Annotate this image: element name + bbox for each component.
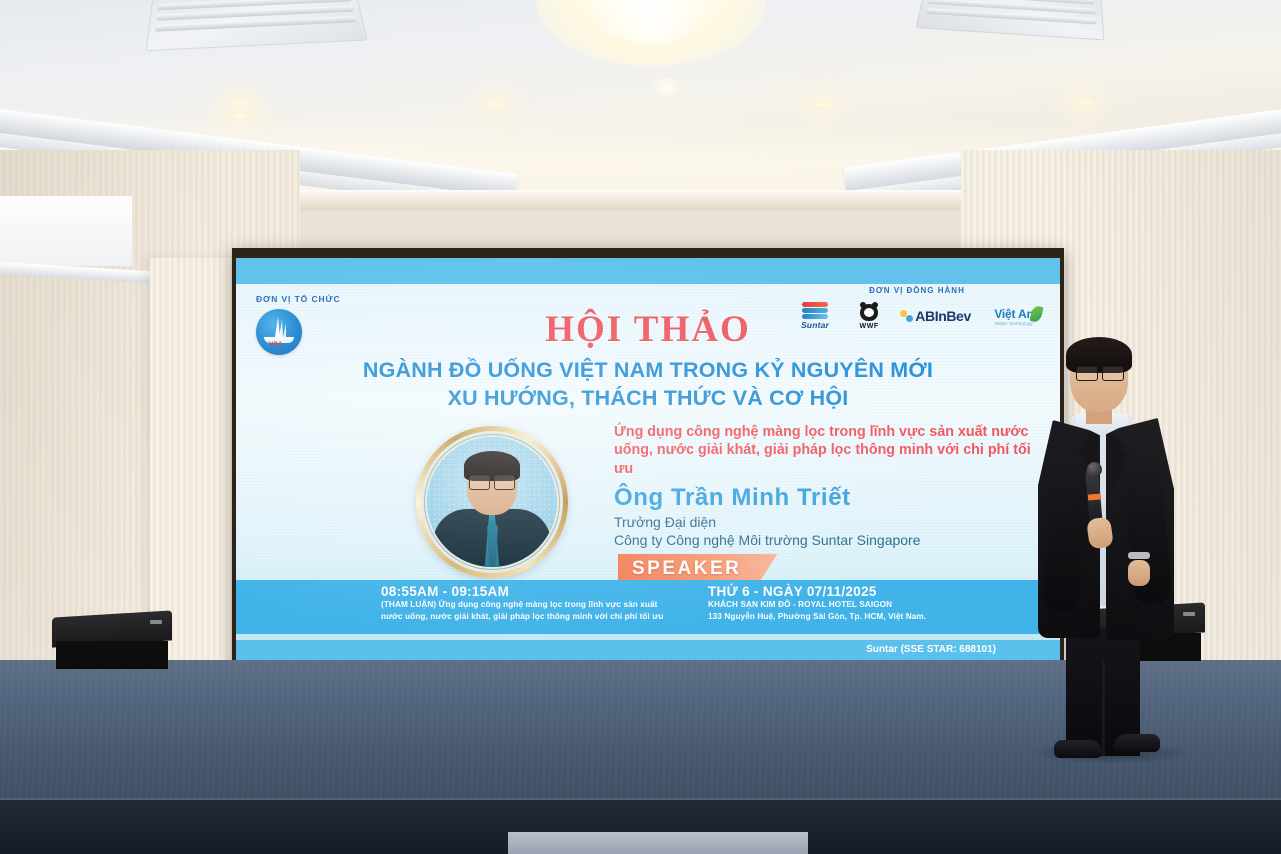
portrait-photo [427,437,557,567]
speaker-name: Ông Trần Minh Triết [614,484,851,512]
portrait-glasses-icon [469,475,515,488]
footer-venue: KHÁCH SẠN KIM ĐÔ - ROYAL HOTEL SAIGON [708,599,1038,611]
speaker-portrait [416,426,568,578]
downlight-icon [226,112,252,121]
stage-monitor-speaker-left [52,614,172,670]
conference-photo-scene: ĐƠN VỊ TỔ CHỨC VBA ĐƠN VỊ ĐỒNG HÀNH [0,0,1281,854]
speaker-organization: Công ty Công nghệ Môi trường Suntar Sing… [614,532,921,548]
presenter-glasses-icon [1076,366,1124,379]
downlight-icon [810,100,836,109]
slide-top-band [236,258,1060,284]
slide-footer-bar: 08:55AM - 09:15AM (THAM LUẬN) Ứng dụng c… [236,580,1060,634]
chandelier-drop [652,78,682,96]
slide-subtitle-line1: NGÀNH ĐỒ UỐNG VIỆT NAM TRONG KỶ NGUYÊN M… [236,358,1060,383]
stage-step [508,832,808,854]
presenter-shoe-left [1054,740,1102,758]
wristwatch-icon [1128,552,1150,559]
organizer-label: ĐƠN VỊ TỔ CHỨC [256,294,436,304]
presenter-shoe-right [1114,734,1160,752]
footer-venue-block: THỨ 6 - NGÀY 07/11/2025 KHÁCH SẠN KIM ĐÔ… [708,584,1038,624]
footer-date: THỨ 6 - NGÀY 07/11/2025 [708,584,1038,599]
ticker-text: Suntar (SSE STAR: 688101) [866,644,996,655]
microphone-band [1088,493,1101,500]
ticker-brand: Suntar [866,644,898,655]
presenter-hand-right [1128,560,1150,586]
slide-subtitle-line2: XU HƯỚNG, THÁCH THỨC VÀ CƠ HỘI [236,386,1060,411]
sponsors-label: ĐƠN VỊ ĐỒNG HÀNH [792,286,1042,295]
slide-ticker-bar: Suntar (SSE STAR: 688101) [236,640,1060,662]
presenter [1032,342,1182,754]
footer-session: (THAM LUẬN) Ứng dụng công nghệ màng lọc … [381,599,681,624]
downlight-icon [228,98,254,107]
footer-session-block: 08:55AM - 09:15AM (THAM LUẬN) Ứng dụng c… [381,584,681,624]
downlight-icon [482,100,508,109]
footer-address: 133 Nguyễn Huệ, Phường Sài Gòn, Tp. HCM,… [708,611,1038,623]
downlight-icon [1072,98,1098,107]
presenter-leg-seam [1102,662,1105,756]
speaker-role: Trưởng Đại diện [614,514,716,530]
slide-headline: HỘI THẢO [236,308,1060,351]
window-left [0,196,132,266]
ticker-listing: (SSE STAR: 688101) [901,644,996,655]
presenter-hand-holding-mic [1086,516,1114,549]
footer-time: 08:55AM - 09:15AM [381,584,681,599]
speaker-topic: Ứng dụng công nghệ màng lọc trong lĩnh v… [614,423,1034,478]
led-screen: ĐƠN VỊ TỔ CHỨC VBA ĐƠN VỊ ĐỒNG HÀNH [236,258,1060,670]
speaker-led-icon [1183,612,1195,616]
microphone-head [1087,462,1102,477]
speaker-led-icon [150,620,162,624]
